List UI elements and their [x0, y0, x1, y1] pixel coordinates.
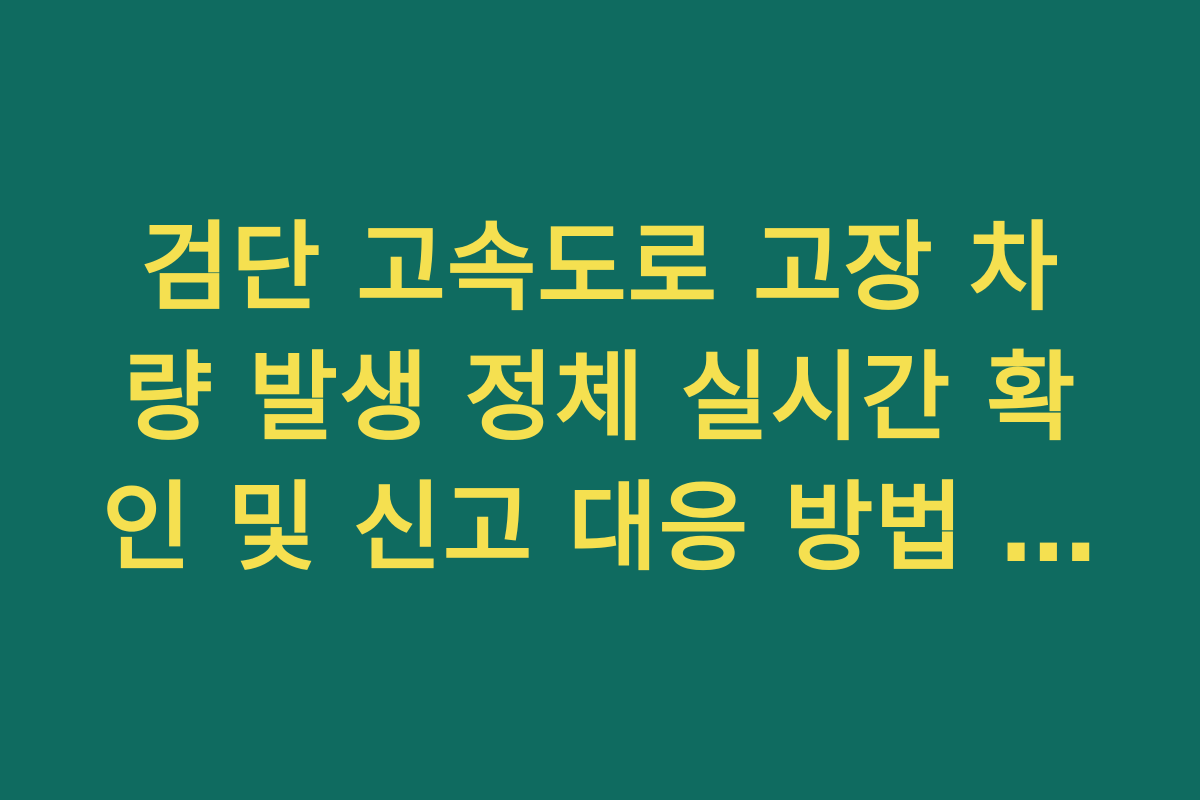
headline-line-2: 량 발생 정체 실시간 확 — [100, 333, 1100, 463]
headline-text-block: 검단 고속도로 고장 차 량 발생 정체 실시간 확 인 및 신고 대응 방법 … — [100, 203, 1100, 593]
headline-line-1: 검단 고속도로 고장 차 — [100, 203, 1100, 333]
thumbnail-card: 검단 고속도로 고장 차 량 발생 정체 실시간 확 인 및 신고 대응 방법 … — [0, 0, 1200, 800]
headline-line-3: 인 및 신고 대응 방법 … — [100, 463, 1100, 593]
